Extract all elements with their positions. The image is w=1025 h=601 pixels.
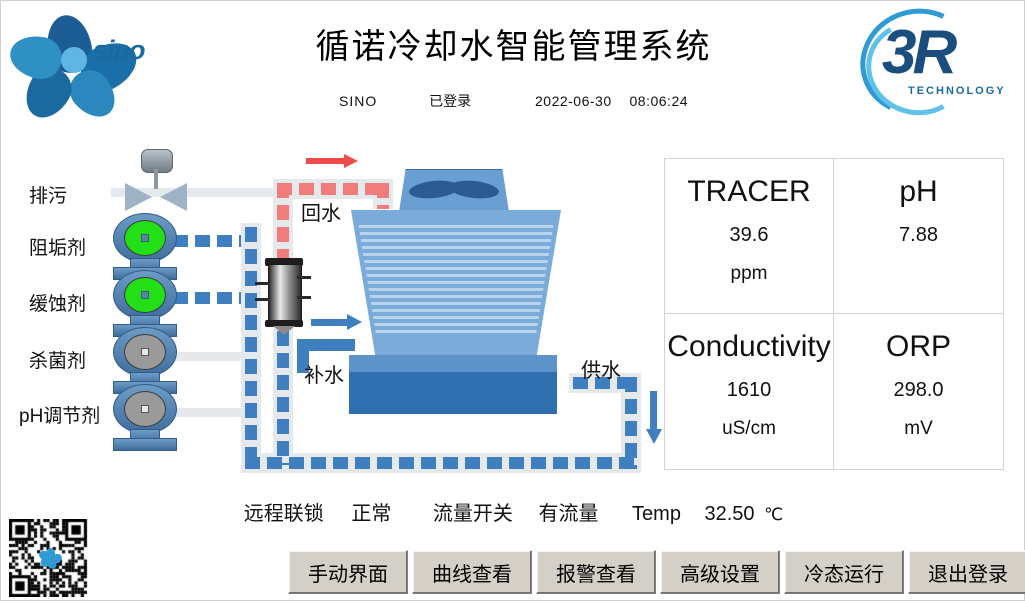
reading-ph[interactable]: pH 7.88 [834, 159, 1003, 314]
tower-fill-media [331, 225, 581, 335]
corrosion-inhibitor-dose-line [173, 292, 251, 304]
tower-basin-upper [349, 355, 557, 373]
current-time: 08:06:24 [630, 93, 689, 109]
alarm-view-button[interactable]: 报警查看 [536, 550, 656, 594]
scale-inhibitor-dose-line [173, 235, 251, 247]
cooling-tower [331, 169, 581, 419]
pump-center-dot [141, 348, 149, 356]
loop-fluid-left [245, 227, 257, 469]
loop-fluid-vessel-down [277, 331, 289, 465]
reading-value: 298.0 [893, 379, 943, 402]
login-status: 已登录 [429, 91, 471, 111]
reading-name: TRACER [687, 175, 810, 208]
temperature-value: 32.50 [705, 503, 755, 526]
reading-unit: ppm [731, 263, 768, 285]
ph-adjuster-pump[interactable] [113, 384, 175, 450]
reading-name: Conductivity [667, 330, 830, 363]
manual-interface-button[interactable]: 手动界面 [288, 550, 408, 594]
status-bar: 远程联锁 正常 流量开关 有流量 Temp 32.50 ℃ [1, 497, 1025, 526]
valve-stem [154, 169, 158, 189]
trend-curve-button[interactable]: 曲线查看 [412, 550, 532, 594]
reading-tracer[interactable]: TRACER 39.6 ppm [665, 159, 834, 314]
flow-switch-value: 有流量 [538, 497, 598, 526]
remote-interlock-label: 远程联锁 [244, 497, 324, 526]
loop-fluid-bottom [245, 457, 637, 469]
logout-button[interactable]: 退出登录 [908, 550, 1025, 594]
flow-switch-label: 流量开关 [433, 497, 513, 526]
pump-center-dot [141, 234, 149, 242]
equipment-label-ph-adjuster: pH调节剂 [19, 401, 100, 428]
scada-screen: sino 3R TECHNOLOGY 循诺冷却水智能管理系统 SINO 已登录 … [0, 0, 1025, 601]
action-button-bar: 手动界面 曲线查看 报警查看 高级设置 冷态运行 退出登录 [288, 550, 1025, 594]
vessel-nozzle [297, 276, 311, 279]
page-title: 循诺冷却水智能管理系统 [1, 19, 1025, 68]
equipment-label-blowdown: 排污 [29, 181, 67, 208]
vessel-nozzle [297, 296, 311, 299]
current-user: SINO [339, 93, 377, 109]
temperature-unit: ℃ [764, 505, 783, 525]
vessel-cone [273, 326, 295, 335]
remote-interlock-value: 正常 [351, 497, 391, 526]
pump-base [113, 438, 177, 451]
reading-value: 39.6 [730, 224, 769, 247]
reading-conductivity[interactable]: Conductivity 1610 uS/cm [665, 314, 834, 469]
vessel-body [268, 264, 302, 324]
advanced-settings-button[interactable]: 高级设置 [660, 550, 780, 594]
return-water-label: 回水 [301, 197, 341, 226]
reading-value: 7.88 [899, 224, 938, 247]
sensor-vessel-icon[interactable] [263, 256, 305, 336]
reading-unit: uS/cm [722, 418, 776, 440]
tower-basin [349, 372, 557, 414]
equipment-label-scale-inhibitor: 阻垢剂 [29, 233, 86, 260]
reading-value: 1610 [727, 379, 772, 402]
vessel-nozzle [255, 298, 269, 301]
makeup-water-label: 补水 [304, 359, 344, 388]
temperature-label: Temp [632, 503, 681, 526]
header-status-line: SINO 已登录 2022-06-30 08:06:24 [1, 91, 1025, 111]
current-date: 2022-06-30 [535, 93, 612, 109]
vessel-nozzle [255, 282, 269, 285]
valve-right-cone [160, 183, 187, 211]
reading-name: ORP [886, 330, 951, 363]
reading-name: pH [899, 175, 937, 208]
supply-water-label: 供水 [581, 354, 621, 383]
cold-run-button[interactable]: 冷态运行 [784, 550, 904, 594]
valve-left-cone [125, 183, 152, 211]
return-water-fluid-left [277, 183, 289, 265]
pump-center-dot [141, 405, 149, 413]
loop-fluid-right [625, 377, 637, 469]
qr-center-logo-icon [41, 548, 61, 568]
pump-center-dot [141, 291, 149, 299]
measurement-panel: TRACER 39.6 ppm pH 7.88 Conductivity 161… [664, 158, 1004, 470]
reading-unit: mV [904, 418, 933, 440]
reading-orp[interactable]: ORP 298.0 mV [834, 314, 1003, 469]
equipment-label-biocide: 杀菌剂 [29, 346, 86, 373]
qr-code [9, 519, 93, 597]
blowdown-valve-icon[interactable] [121, 149, 191, 209]
equipment-label-corrosion-inhibitor: 缓蚀剂 [29, 289, 86, 316]
